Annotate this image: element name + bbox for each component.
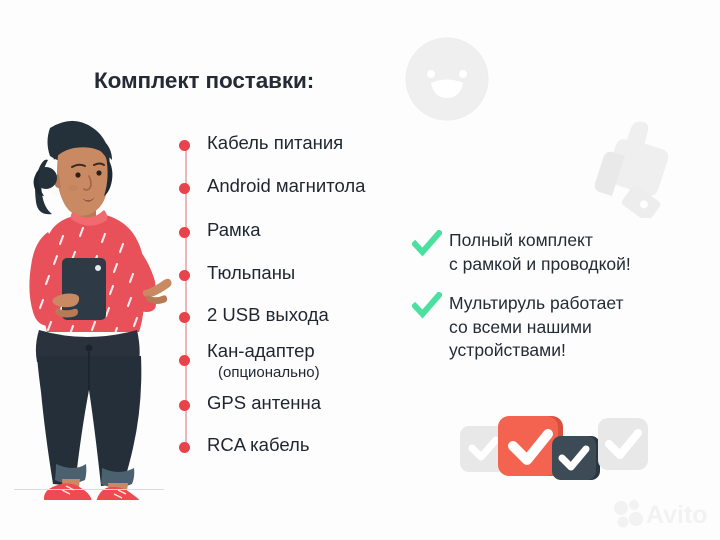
list-item-label: RCA кабель bbox=[207, 434, 309, 456]
svg-text:Avito: Avito bbox=[646, 501, 708, 529]
green-check-icon bbox=[412, 292, 442, 322]
thumbs-up-icon bbox=[578, 108, 682, 218]
avito-watermark: Avito bbox=[612, 496, 716, 530]
green-check-icon bbox=[412, 230, 442, 260]
floor-shadow-line bbox=[14, 489, 164, 490]
bullet-dot-icon bbox=[179, 312, 190, 323]
list-item-label: 2 USB выхода bbox=[207, 304, 329, 326]
list-item-label: Кабель питания bbox=[207, 132, 343, 154]
smiley-face-icon bbox=[404, 36, 490, 122]
slide-canvas: Комплект поставки: Кабель питания Androi… bbox=[0, 0, 720, 540]
list-item-label: Рамка bbox=[207, 219, 261, 241]
bullet-dot-icon bbox=[179, 140, 190, 151]
bullet-dot-icon bbox=[179, 183, 190, 194]
list-item-sublabel: (опционально) bbox=[218, 364, 320, 381]
bullet-dot-icon bbox=[179, 400, 190, 411]
bullet-dot-icon bbox=[179, 442, 190, 453]
benefit-text: Мультируль работает со всеми нашими устр… bbox=[449, 292, 624, 363]
list-item-label: GPS антенна bbox=[207, 392, 321, 414]
woman-pointing-illustration bbox=[10, 112, 175, 500]
benefit-text: Полный комплект с рамкой и проводкой! bbox=[449, 229, 631, 276]
bullet-dot-icon bbox=[179, 270, 190, 281]
page-title: Комплект поставки: bbox=[94, 68, 314, 94]
bullet-dot-icon bbox=[179, 227, 190, 238]
list-item-label: Тюльпаны bbox=[207, 262, 295, 284]
bullet-dot-icon bbox=[179, 355, 190, 366]
list-item-label: Android магнитола bbox=[207, 175, 365, 197]
list-item-label: Кан-адаптер bbox=[207, 340, 315, 362]
checkbox-group-icon bbox=[458, 408, 648, 490]
